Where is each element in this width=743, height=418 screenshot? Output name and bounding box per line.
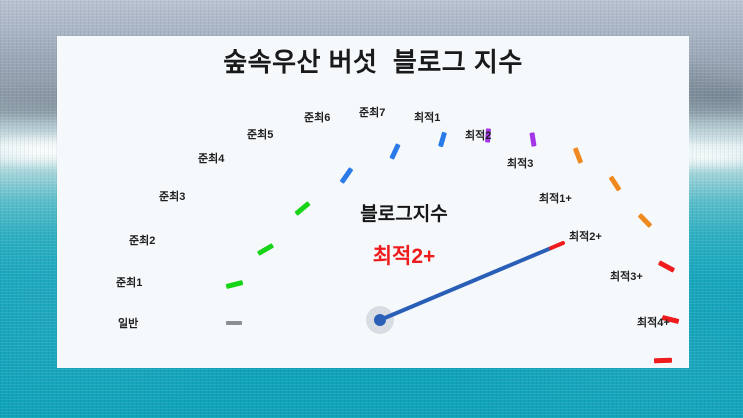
gauge-pivot-dot bbox=[374, 314, 386, 326]
gauge-center-value: 최적2+ bbox=[319, 240, 489, 270]
gauge-needle-tip bbox=[551, 243, 563, 248]
gauge-center-caption: 블로그지수 bbox=[319, 199, 489, 226]
content-card: 숲속우산 버섯 블로그 지수 일반준최1준최2준최3준최4준최5준최6준최7최적… bbox=[57, 36, 689, 368]
slide-canvas: 숲속우산 버섯 블로그 지수 일반준최1준최2준최3준최4준최5준최6준최7최적… bbox=[0, 0, 743, 418]
blog-index-gauge: 일반준최1준최2준최3준최4준최5준최6준최7최적1최적2최적3최적1+최적2+… bbox=[57, 36, 689, 368]
